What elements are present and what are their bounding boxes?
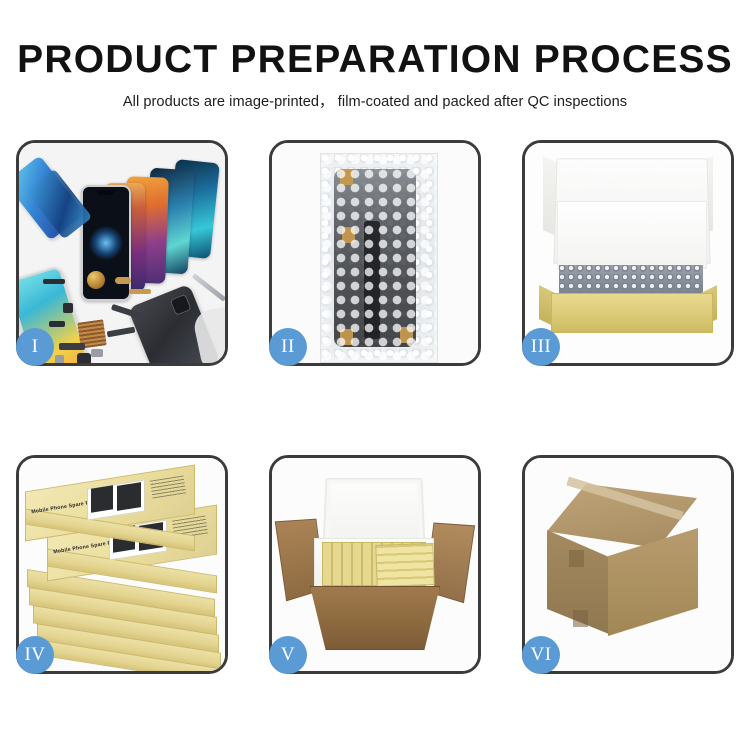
tweezers-icon: [192, 273, 225, 302]
product-preparation-infographic: PRODUCT PREPARATION PROCESS All products…: [0, 0, 750, 750]
gold-tab-4: [400, 327, 413, 343]
flex-cable-2: [107, 327, 136, 338]
panel-image-sealed-carton: [525, 458, 731, 671]
small-part-8: [49, 321, 65, 327]
scene-sealed-carton: [525, 458, 731, 671]
small-part-7: [77, 353, 91, 363]
panel-open-flat-box: III: [522, 140, 734, 366]
panel-sealed-carton: VI: [522, 455, 734, 674]
step-badge-2: II: [269, 328, 307, 366]
foam-sheet: [557, 201, 707, 269]
process-step-grid: I II: [16, 140, 734, 674]
panel-open-carton: V: [269, 455, 481, 674]
scene-box-stack: Mobile Phone Spare Parts Mobile Phone Sp…: [19, 458, 225, 671]
step-badge-3: III: [522, 328, 560, 366]
carton-body: [310, 586, 440, 650]
carton-handle-notch-top: [569, 550, 584, 567]
wrapped-part-strip: [364, 221, 380, 339]
panel-image-stacked-boxes: Mobile Phone Spare Parts Mobile Phone Sp…: [19, 458, 225, 671]
small-part-3: [115, 277, 131, 284]
small-part-6: [55, 355, 64, 363]
step-badge-6: VI: [522, 636, 560, 674]
small-part-1: [43, 279, 65, 284]
panel-image-parts-overview: [19, 143, 225, 363]
box-screen-image-1a: [91, 485, 113, 512]
speaker-part-icon: [87, 271, 105, 289]
panel-image-open-flat-box: [525, 143, 731, 363]
panel-bubble-wrapped-part: II: [269, 140, 481, 366]
gold-tab-3: [340, 329, 353, 345]
small-part-5: [63, 303, 73, 313]
carton-handle-notch-bottom: [573, 610, 588, 627]
box-front-panel: [551, 293, 713, 333]
header: PRODUCT PREPARATION PROCESS All products…: [0, 40, 750, 111]
step-badge-5: V: [269, 636, 307, 674]
packed-boxes-right: [375, 543, 434, 587]
small-part-9: [91, 349, 103, 357]
panel-image-open-carton: [272, 458, 478, 671]
page-title: PRODUCT PREPARATION PROCESS: [0, 40, 750, 81]
panel-stacked-boxes: Mobile Phone Spare Parts Mobile Phone Sp…: [16, 455, 228, 674]
box-screen-image-1b: [117, 482, 141, 511]
step-badge-1: I: [16, 328, 54, 366]
scene-flat-box: [525, 143, 731, 363]
scene-phone-parts: [19, 143, 225, 363]
page-subtitle: All products are image-printed， film-coa…: [0, 90, 750, 111]
panel-parts-overview: I: [16, 140, 228, 366]
scene-bubble-wrap: [272, 143, 478, 363]
scene-open-carton: [272, 458, 478, 671]
small-part-4: [129, 289, 151, 294]
gold-tab-2: [342, 227, 355, 243]
gold-tab-1: [340, 169, 353, 185]
step-badge-4: IV: [16, 636, 54, 674]
panel-image-bubble-wrapped-part: [272, 143, 478, 363]
small-part-2: [59, 343, 85, 350]
carton-right-face: [608, 528, 698, 636]
